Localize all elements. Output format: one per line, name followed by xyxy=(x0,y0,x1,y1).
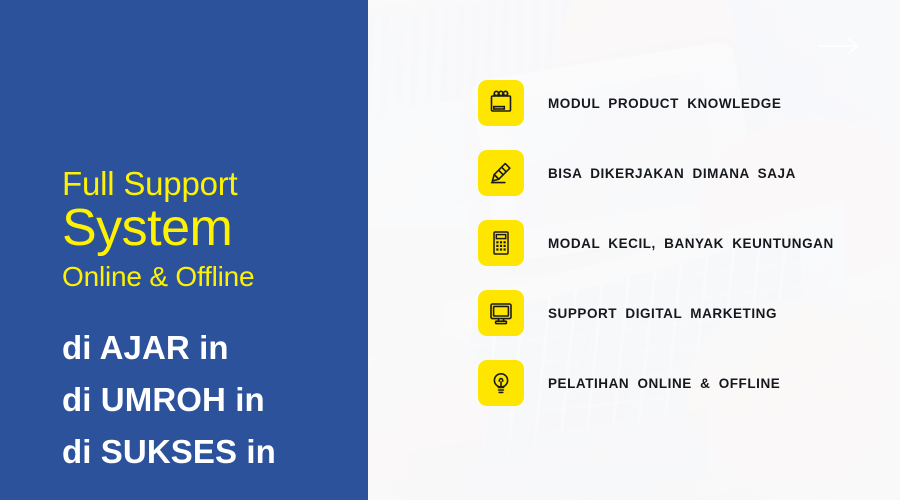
arrow-right-icon[interactable] xyxy=(818,36,860,56)
promo-banner: Full Support System Online & Offline di … xyxy=(0,0,900,500)
feature-label: PELATIHAN ONLINE & OFFLINE xyxy=(548,376,780,391)
headline-block: Full Support System Online & Offline xyxy=(62,164,362,295)
slogan-line-1: di AJAR in xyxy=(62,322,372,374)
lightbulb-icon xyxy=(478,360,524,406)
feature-item-modul-product-knowledge[interactable]: MODUL PRODUCT KNOWLEDGE xyxy=(478,80,781,126)
slogan-block: di AJAR in di UMROH in di SUKSES in xyxy=(62,322,372,478)
feature-item-support-digital-marketing[interactable]: SUPPORT DIGITAL MARKETING xyxy=(478,290,777,336)
slogan-line-3: di SUKSES in xyxy=(62,426,372,478)
notepad-icon xyxy=(478,80,524,126)
pen-icon xyxy=(478,150,524,196)
feature-label: BISA DIKERJAKAN DIMANA SAJA xyxy=(548,166,796,181)
feature-label: MODUL PRODUCT KNOWLEDGE xyxy=(548,96,781,111)
feature-label: SUPPORT DIGITAL MARKETING xyxy=(548,306,777,321)
monitor-icon xyxy=(478,290,524,336)
calculator-icon xyxy=(478,220,524,266)
headline-line-1: Full Support xyxy=(62,164,362,204)
headline-line-3: Online & Offline xyxy=(62,259,362,295)
slogan-line-2: di UMROH in xyxy=(62,374,372,426)
feature-item-pelatihan-online-offline[interactable]: PELATIHAN ONLINE & OFFLINE xyxy=(478,360,780,406)
feature-label: MODAL KECIL, BANYAK KEUNTUNGAN xyxy=(548,236,834,251)
headline-line-2: System xyxy=(62,201,362,255)
feature-item-modal-kecil-banyak-keuntungan[interactable]: MODAL KECIL, BANYAK KEUNTUNGAN xyxy=(478,220,834,266)
feature-item-bisa-dikerjakan-dimana-saja[interactable]: BISA DIKERJAKAN DIMANA SAJA xyxy=(478,150,796,196)
blue-panel: Full Support System Online & Offline di … xyxy=(0,0,368,500)
